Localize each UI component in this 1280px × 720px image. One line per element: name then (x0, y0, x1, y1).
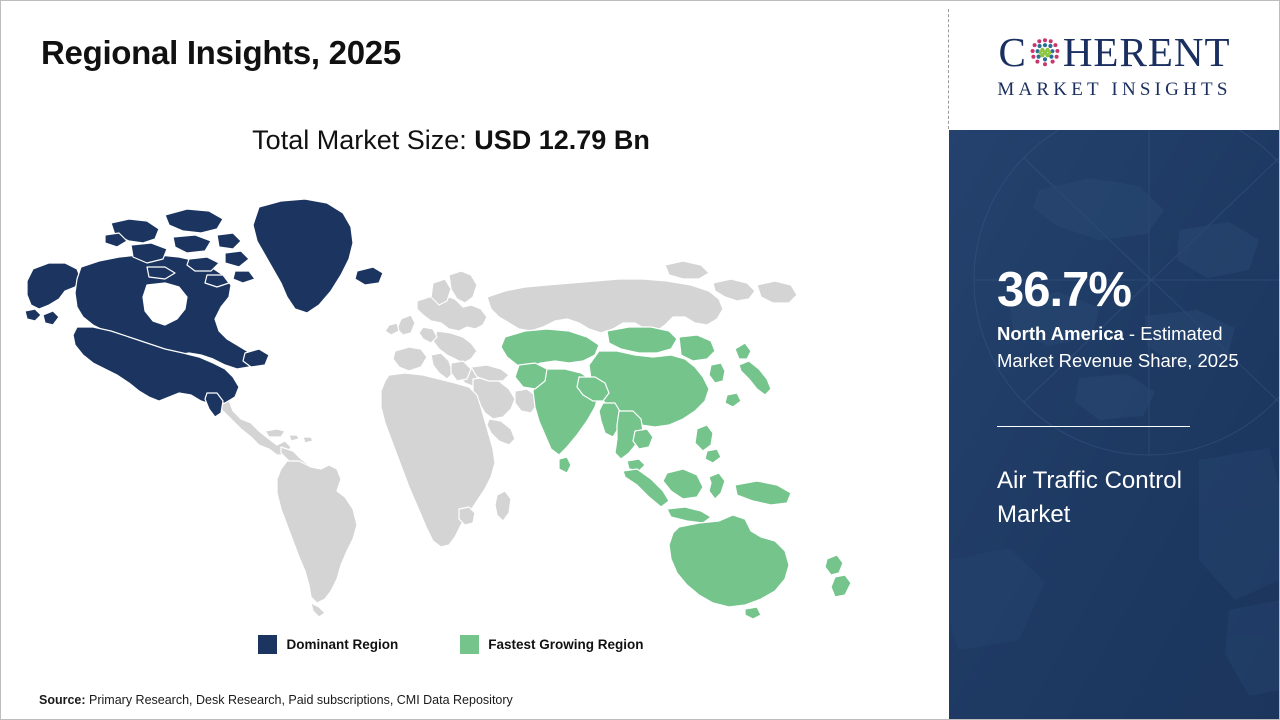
stat-divider-rule (997, 426, 1190, 427)
legend-label-fastest-growing: Fastest Growing Region (488, 637, 643, 652)
page-title: Regional Insights, 2025 (41, 34, 401, 72)
stat-description: North America - Estimated Market Revenue… (997, 321, 1259, 375)
total-market-size-label: Total Market Size: (252, 125, 474, 155)
logo-subtitle: MARKET INSIGHTS (997, 79, 1231, 101)
logo-word-left: C (998, 32, 1026, 73)
map-region-north-america (25, 199, 383, 417)
legend-item-fastest-growing: Fastest Growing Region (460, 635, 643, 654)
source-label: Source: (39, 693, 86, 707)
stat-region-name: North America (997, 323, 1124, 344)
stat-content: 36.7% North America - Estimated Market R… (997, 130, 1280, 719)
stat-highlight-panel: 36.7% North America - Estimated Market R… (949, 130, 1280, 719)
logo-word-right: HERENT (1063, 32, 1231, 73)
left-content-panel: Regional Insights, 2025 Total Market Siz… (1, 1, 948, 719)
legend-item-dominant: Dominant Region (258, 635, 398, 654)
stat-percent-value: 36.7% (997, 266, 1131, 315)
map-region-asia-pacific (501, 327, 851, 619)
right-brand-panel: C (949, 1, 1280, 719)
source-note: Source: Primary Research, Desk Research,… (39, 693, 513, 707)
legend-label-dominant: Dominant Region (286, 637, 398, 652)
total-market-size: Total Market Size: USD 12.79 Bn (1, 125, 901, 156)
company-logo: C (949, 1, 1280, 129)
total-market-size-value: USD 12.79 Bn (474, 125, 650, 155)
logo-wordmark: C (998, 29, 1230, 75)
legend-swatch-fastest-growing (460, 635, 479, 654)
dotted-globe-icon (1028, 35, 1062, 69)
world-map (19, 179, 899, 619)
market-name: Air Traffic Control Market (997, 464, 1259, 532)
source-text: Primary Research, Desk Research, Paid su… (86, 693, 513, 707)
legend-swatch-dominant (258, 635, 277, 654)
infographic-page: Regional Insights, 2025 Total Market Siz… (0, 0, 1280, 720)
map-legend: Dominant Region Fastest Growing Region (1, 635, 901, 654)
